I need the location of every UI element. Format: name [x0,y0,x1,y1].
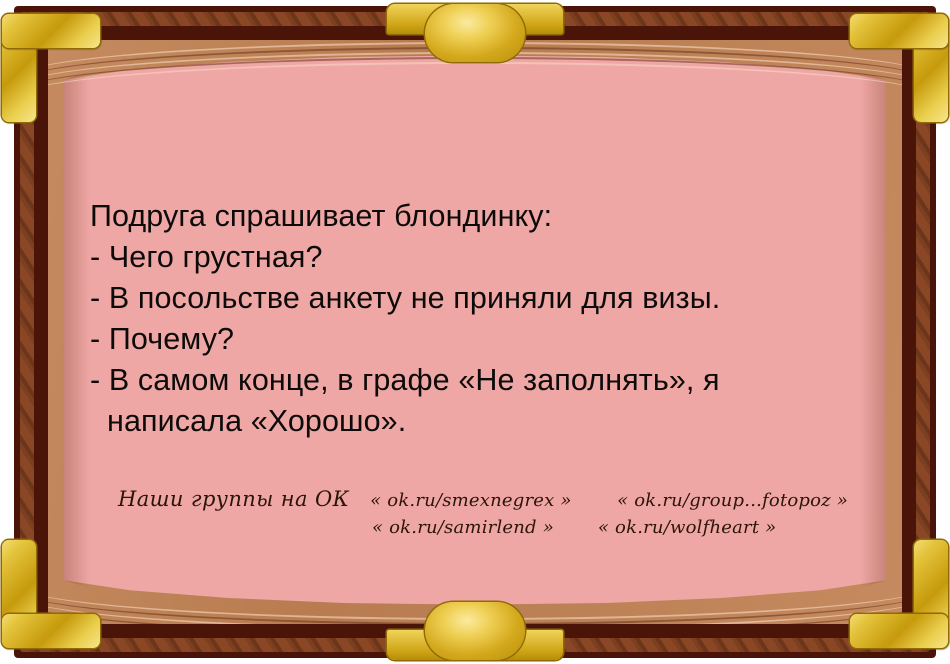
gold-ornament-top-center [387,4,563,64]
gold-corner-bottom-right [850,540,948,648]
ornament-dome [425,4,525,62]
signature-block: Наши группы на ОК « ok.ru/smexnegrex » «… [118,487,848,538]
gold-ornament-bottom-center [387,600,563,660]
joke-line-6: написала «Хорошо». [90,401,880,442]
signature-link-wolfheart[interactable]: « ok.ru/wolfheart » [598,517,776,538]
gold-corner-arm-horizontal [850,614,948,648]
image-canvas: Подруга спрашивает блондинку: - Чего гру… [0,0,950,664]
signature-row-1: Наши группы на ОК « ok.ru/smexnegrex » «… [118,487,848,511]
joke-line-1: Подруга спрашивает блондинку: [90,196,880,237]
gold-corner-top-left [2,14,100,122]
joke-text-block: Подруга спрашивает блондинку: - Чего гру… [90,196,880,442]
ornament-dome [425,602,525,660]
signature-row-2: « ok.ru/samirlend » « ok.ru/wolfheart » [118,517,848,538]
gold-corner-arm-horizontal [2,614,100,648]
signature-link-samirlend[interactable]: « ok.ru/samirlend » [372,517,554,538]
gold-corner-arm-horizontal [850,14,948,48]
page-shadow-left [64,52,90,608]
joke-line-3: - В посольстве анкету не приняли для виз… [90,278,880,319]
gold-corner-top-right [850,14,948,122]
joke-line-4: - Почему? [90,319,880,360]
gold-corner-arm-horizontal [2,14,100,48]
gold-corner-bottom-left [2,540,100,648]
signature-label: Наши группы на ОК [118,487,349,511]
joke-line-5: - В самом конце, в графе «Не заполнять»,… [90,360,880,401]
signature-link-smexnegrex[interactable]: « ok.ru/smexnegrex » [370,490,571,511]
joke-line-2: - Чего грустная? [90,237,880,278]
signature-link-fotopoz[interactable]: « ok.ru/group...fotopoz » [617,490,848,511]
